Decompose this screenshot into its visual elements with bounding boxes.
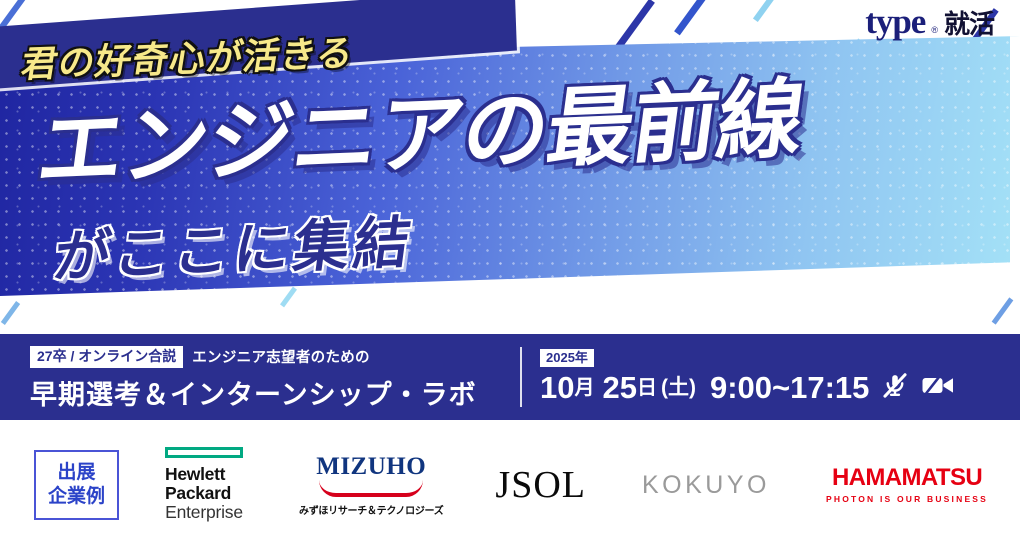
exhibitor-label-line2: 企業例 xyxy=(48,485,105,509)
kokuyo-wordmark: KOKUYO xyxy=(642,473,770,498)
exhibitor-label-line1: 出展 xyxy=(48,461,105,485)
hero-subline: がここに集結 xyxy=(50,214,417,285)
jsol-wordmark: JSOL xyxy=(495,466,586,504)
event-lead-text: エンジニア志望者のための xyxy=(192,346,370,367)
mizuho-subtitle: みずほリサーチ＆テクノロジーズ xyxy=(299,502,443,517)
sponsor-logo-mizuho[interactable]: MIZUHO みずほリサーチ＆テクノロジーズ xyxy=(299,454,443,517)
event-title: 早期選考＆インターンシップ・ラボ xyxy=(30,373,520,412)
mic-off-icon xyxy=(881,370,909,405)
hpe-line2: Enterprise xyxy=(165,503,243,523)
hpe-line1: Hewlett Packard xyxy=(165,465,243,503)
event-info-left: 27卒 / オンライン合説 エンジニア志望者のための 早期選考＆インターンシップ… xyxy=(0,334,520,420)
sponsor-logo-kokuyo[interactable]: KOKUYO xyxy=(642,473,770,498)
mizuho-swoosh-icon xyxy=(319,480,423,497)
exhibitor-label-box: 出展 企業例 xyxy=(34,450,119,521)
hpe-mark-icon xyxy=(165,447,243,458)
logo-wordmark: type xyxy=(865,4,925,39)
logo-japanese-wordmark: 就活 xyxy=(944,11,994,37)
mizuho-wordmark: MIZUHO xyxy=(316,454,426,479)
hamamatsu-tagline: PHOTON IS OUR BUSINESS xyxy=(826,494,988,504)
registered-mark-icon: ® xyxy=(931,25,938,35)
event-weekday: (土) xyxy=(661,377,696,398)
event-info-meta-row: 27卒 / オンライン合説 エンジニア志望者のための xyxy=(30,346,520,368)
video-camera-icon xyxy=(921,371,955,404)
year-chip: 2025年 xyxy=(540,349,594,368)
hamamatsu-wordmark: HAMAMATSU xyxy=(832,466,982,490)
event-time: 9:00~17:15 xyxy=(710,372,869,403)
sponsor-logo-hewlett-packard-enterprise[interactable]: Hewlett Packard Enterprise xyxy=(165,447,243,522)
event-month-unit: 月 xyxy=(574,378,594,398)
sponsor-logo-jsol[interactable]: JSOL xyxy=(495,466,586,504)
type-shukatsu-logo[interactable]: type ® 就活 xyxy=(865,4,994,39)
sponsor-bar: 出展 企業例 Hewlett Packard Enterprise MIZUHO… xyxy=(0,420,1020,550)
vertical-divider xyxy=(520,347,522,407)
event-month: 10 xyxy=(540,372,574,403)
event-banner: type ® 就活 君の好奇心が活きる エンジニアの最前線 がここに集結 27卒… xyxy=(0,0,1020,550)
event-day: 25 xyxy=(602,372,636,403)
event-date-time-row: 10 月 25 日 (土) 9:00~17:15 xyxy=(540,370,955,405)
event-day-unit: 日 xyxy=(637,378,657,398)
event-schedule: 2025年 10 月 25 日 (土) 9:00~17:15 xyxy=(540,334,955,420)
sponsor-logo-hamamatsu[interactable]: HAMAMATSU PHOTON IS OUR BUSINESS xyxy=(826,466,988,504)
event-info-bar: 27卒 / オンライン合説 エンジニア志望者のための 早期選考＆インターンシップ… xyxy=(0,334,1020,420)
grad-year-chip: 27卒 / オンライン合説 xyxy=(30,346,183,368)
